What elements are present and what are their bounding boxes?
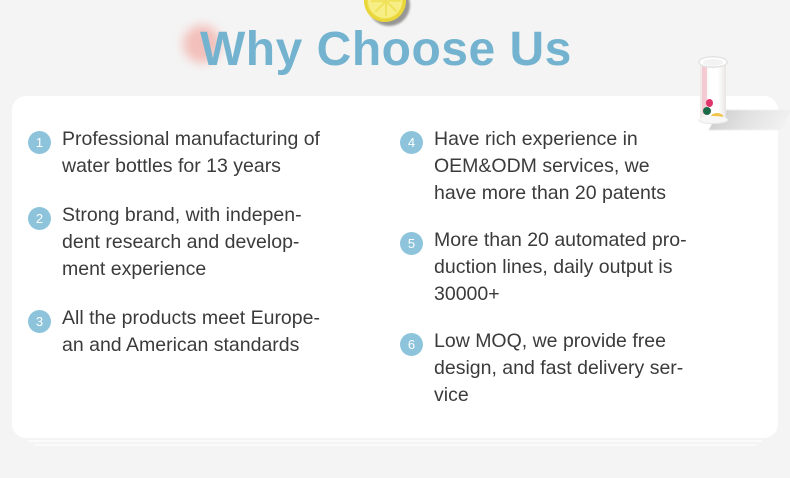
feature-text: Strong brand, with indepen- dent researc… <box>62 202 392 283</box>
feature-number-badge: 2 <box>28 207 51 230</box>
feature-number-badge: 3 <box>28 310 51 333</box>
bottle-base <box>698 116 728 124</box>
why-choose-us-banner: Why Choose Us 1 Professional manufacturi… <box>0 0 790 478</box>
card-edge-highlight <box>28 440 762 442</box>
feature-text: More than 20 automated pro- duction line… <box>434 227 768 308</box>
feature-item-6: 6 Low MOQ, we provide free design, and f… <box>400 328 768 409</box>
feature-number-badge: 1 <box>28 131 51 154</box>
feature-number-badge: 5 <box>400 232 423 255</box>
features-right-column: 4 Have rich experience in OEM&ODM servic… <box>400 126 768 429</box>
water-bottle-image <box>694 58 790 136</box>
feature-number-badge: 4 <box>400 131 423 154</box>
feature-text: Low MOQ, we provide free design, and fas… <box>434 328 768 409</box>
feature-text: Have rich experience in OEM&ODM services… <box>434 126 768 207</box>
page-title: Why Choose Us <box>200 24 620 77</box>
feature-item-5: 5 More than 20 automated pro- duction li… <box>400 227 768 308</box>
bottle-neck-opening <box>703 59 723 66</box>
feature-text: All the products meet Europe- an and Ame… <box>62 305 392 359</box>
card-edge-highlight-secondary <box>34 444 756 446</box>
features-left-column: 1 Professional manufacturing of water bo… <box>28 126 392 359</box>
feature-item-3: 3 All the products meet Europe- an and A… <box>28 305 392 359</box>
bottle-fruit-red <box>706 99 713 107</box>
feature-item-2: 2 Strong brand, with indepen- dent resea… <box>28 202 392 283</box>
feature-text: Professional manufacturing of water bott… <box>62 126 392 180</box>
bottle-fruit-green <box>703 107 711 115</box>
feature-item-1: 1 Professional manufacturing of water bo… <box>28 126 392 180</box>
feature-item-4: 4 Have rich experience in OEM&ODM servic… <box>400 126 768 207</box>
feature-number-badge: 6 <box>400 333 423 356</box>
